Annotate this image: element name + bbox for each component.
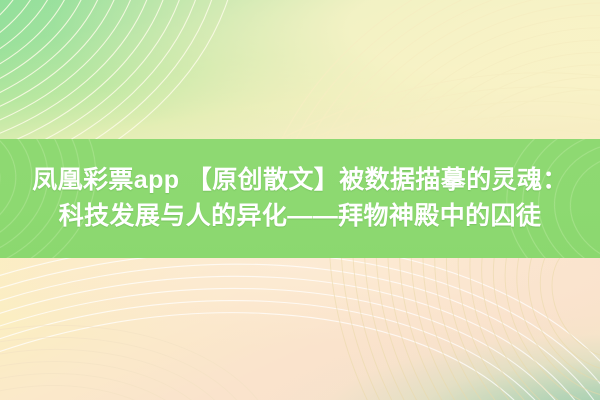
article-banner: 凤凰彩票app 【原创散文】被数据描摹的灵魂： 科技发展与人的异化——拜物神殿中… <box>0 0 600 400</box>
title-line-2: 科技发展与人的异化——拜物神殿中的囚徒 <box>59 202 542 232</box>
title-line-1: 凤凰彩票app 【原创散文】被数据描摹的灵魂： <box>32 166 568 196</box>
bottom-decorative-band <box>0 258 600 400</box>
top-decorative-band <box>0 0 600 140</box>
banner-title: 凤凰彩票app 【原创散文】被数据描摹的灵魂： 科技发展与人的异化——拜物神殿中… <box>0 139 600 258</box>
bottom-teal-wash <box>0 258 600 400</box>
top-cream-wash <box>0 0 600 140</box>
